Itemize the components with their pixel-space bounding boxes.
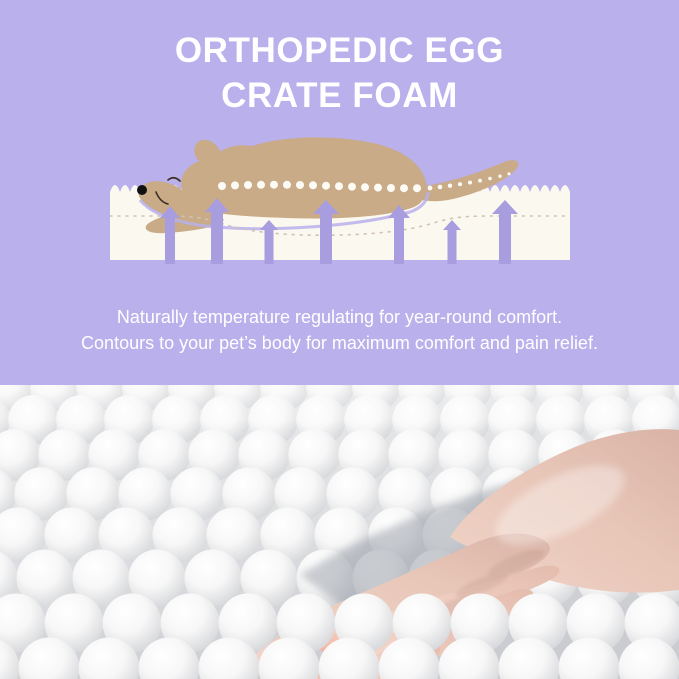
dog-foam-illustration bbox=[110, 130, 570, 270]
page-title-line-1: ORTHOPEDIC EGG bbox=[175, 31, 504, 70]
body-copy-line-1: Naturally temperature regulating for yea… bbox=[0, 304, 679, 330]
dog-eye-icon bbox=[168, 178, 180, 181]
product-feature-graphic: ORTHOPEDIC EGG CRATE FOAM bbox=[0, 0, 679, 679]
top-purple-panel: ORTHOPEDIC EGG CRATE FOAM bbox=[0, 0, 679, 385]
body-copy: Naturally temperature regulating for yea… bbox=[0, 304, 679, 356]
hand-pressing-foam-photo bbox=[0, 385, 679, 679]
page-title: ORTHOPEDIC EGG CRATE FOAM bbox=[0, 28, 679, 118]
body-copy-line-2: Contours to your pet’s body for maximum … bbox=[0, 330, 679, 356]
dog-nose-icon bbox=[137, 185, 147, 195]
page-title-line-2: CRATE FOAM bbox=[0, 73, 679, 118]
